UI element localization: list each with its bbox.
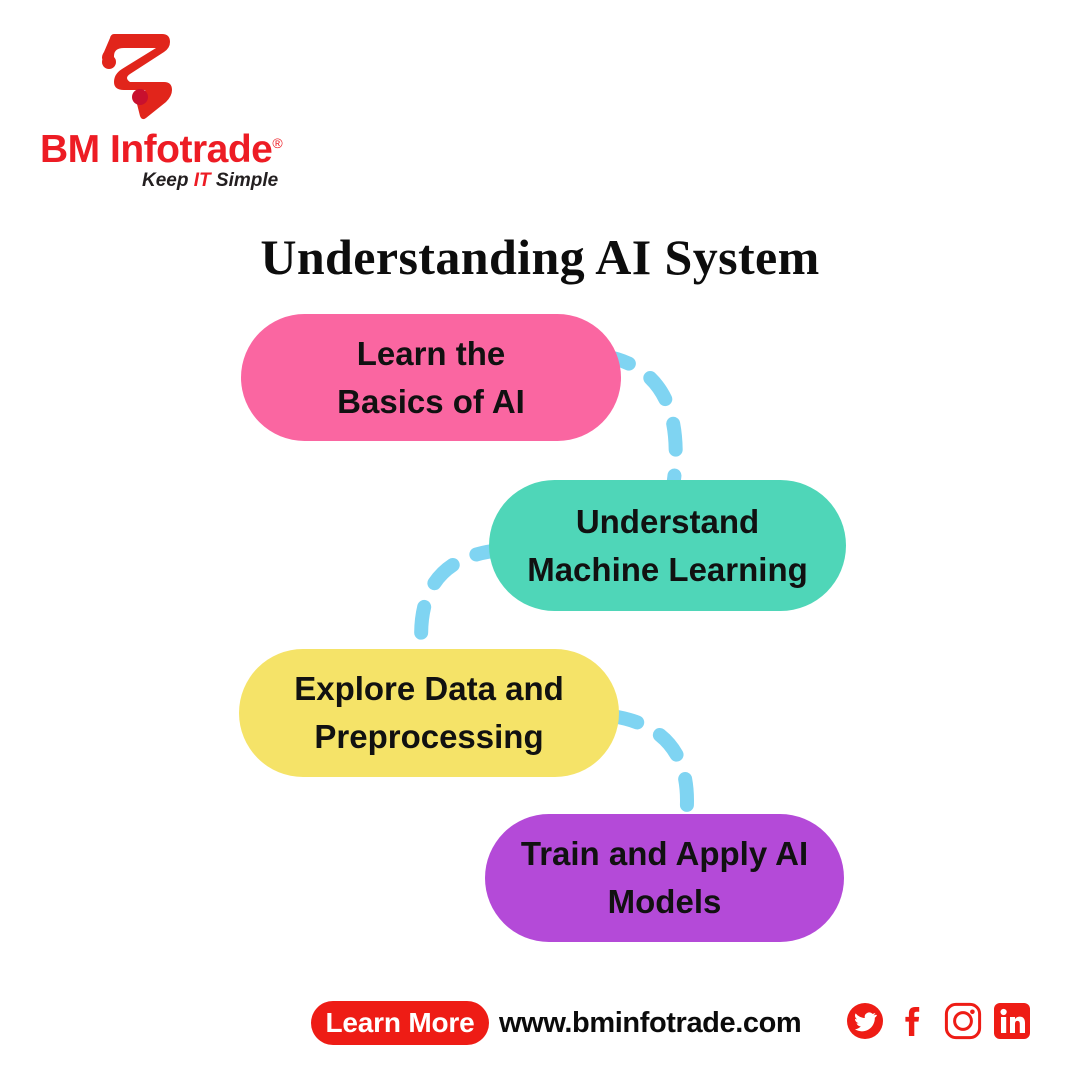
facebook-icon[interactable]: [894, 1001, 934, 1041]
bm-ribbon-logo-icon: [100, 22, 190, 120]
brand-tagline: Keep IT Simple: [142, 170, 278, 192]
step-line: Preprocessing: [314, 718, 543, 756]
step-line: Machine Learning: [527, 551, 808, 589]
registered-trademark-symbol: ®: [272, 135, 282, 151]
linkedin-icon[interactable]: [992, 1001, 1032, 1041]
step-line: Understand: [576, 503, 759, 541]
step-line: Learn the: [357, 335, 506, 373]
infographic-canvas: BM Infotrade® Keep IT Simple Understandi…: [0, 0, 1080, 1080]
brand-logo[interactable]: BM Infotrade® Keep IT Simple: [34, 22, 284, 187]
step-pill-train-and-apply-ai-models[interactable]: Train and Apply AI Models: [485, 814, 844, 942]
step-line: Basics of AI: [337, 383, 525, 421]
social-links: [845, 1001, 1032, 1041]
tagline-pre: Keep: [142, 170, 194, 191]
twitter-icon[interactable]: [845, 1001, 885, 1041]
instagram-icon[interactable]: [943, 1001, 983, 1041]
step-line: Models: [608, 883, 722, 921]
brand-name-infotrade: Infotrade: [110, 128, 272, 171]
learn-more-button[interactable]: Learn More: [311, 1001, 489, 1045]
brand-wordmark: BM Infotrade®: [40, 122, 280, 164]
step-pill-explore-data-and-preprocessing[interactable]: Explore Data and Preprocessing: [239, 649, 619, 777]
website-url[interactable]: www.bminfotrade.com: [499, 1003, 801, 1043]
step-line: Explore Data and: [294, 670, 564, 708]
tagline-post: Simple: [211, 170, 279, 191]
tagline-highlight: IT: [194, 170, 211, 191]
brand-name-bm: BM: [40, 128, 100, 171]
step-pill-understand-machine-learning[interactable]: Understand Machine Learning: [489, 480, 846, 611]
page-title: Understanding AI System: [0, 228, 1080, 286]
step-pill-learn-basics-of-ai[interactable]: Learn the Basics of AI: [241, 314, 621, 441]
step-line: Train and Apply AI: [521, 835, 808, 873]
footer-bar: Learn More www.bminfotrade.com: [0, 985, 1080, 1080]
